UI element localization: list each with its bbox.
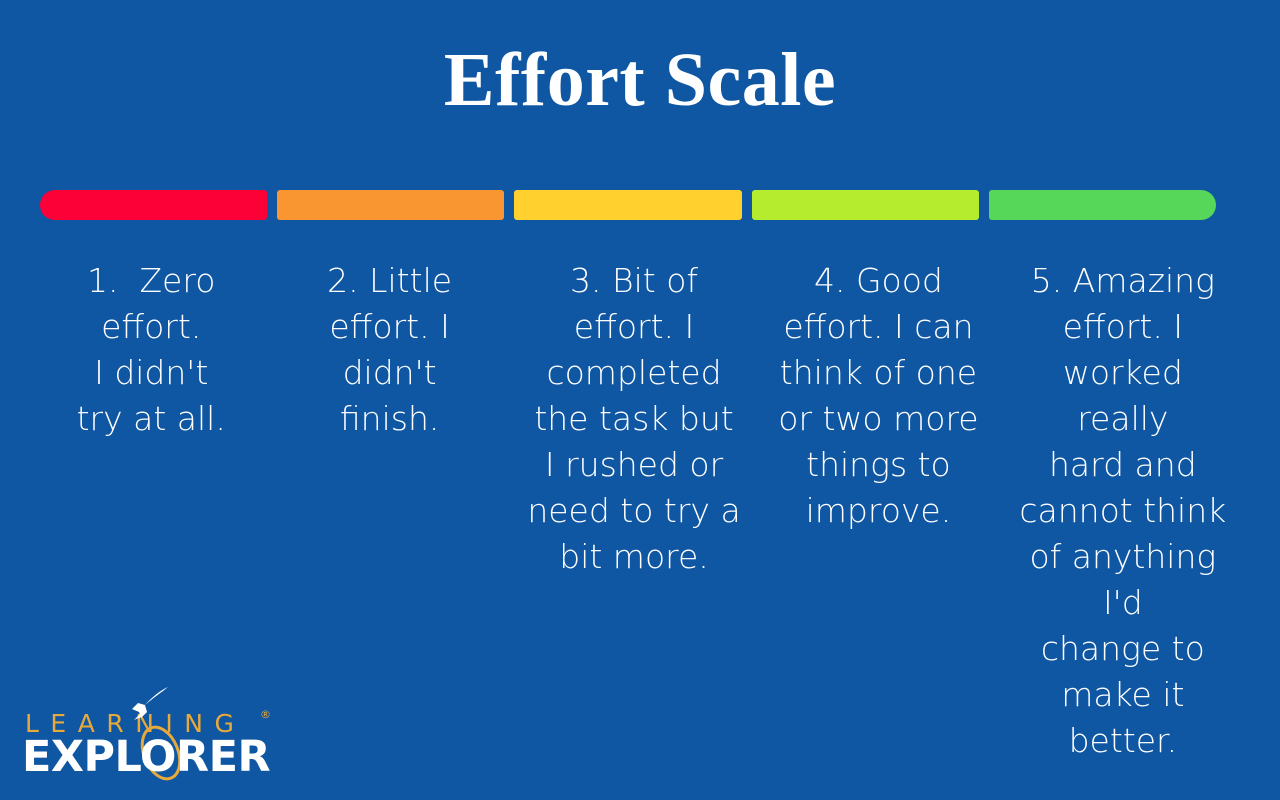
bar-level-2-orange (277, 190, 504, 220)
bar-level-3-yellow (514, 190, 741, 220)
logo-explorer-text: EXPLORER (22, 734, 270, 780)
slide-root: Effort Scale 1. Zero effort. I didn't tr… (0, 0, 1280, 800)
bar-level-5-green (989, 190, 1216, 220)
effort-scale-bar-track (40, 190, 1216, 220)
effort-description-3: 3. Bit of effort. I completed the task b… (517, 258, 751, 580)
rocket-icon (128, 686, 172, 722)
effort-description-1: 1. Zero effort. I didn't try at all. (40, 258, 262, 442)
page-title: Effort Scale (0, 36, 1280, 124)
registered-trademark-icon: ® (260, 708, 271, 721)
effort-description-5: 5. Amazing effort. I worked really hard … (1006, 258, 1240, 764)
bar-level-1-red (40, 190, 267, 220)
bar-level-4-chartreuse (752, 190, 979, 220)
learning-explorer-logo: LEARNING ® EXPLORER (22, 688, 272, 780)
effort-description-2: 2. Little effort. I didn't finish. (272, 258, 506, 442)
effort-description-4: 4. Good effort. I can think of one or tw… (761, 258, 995, 534)
